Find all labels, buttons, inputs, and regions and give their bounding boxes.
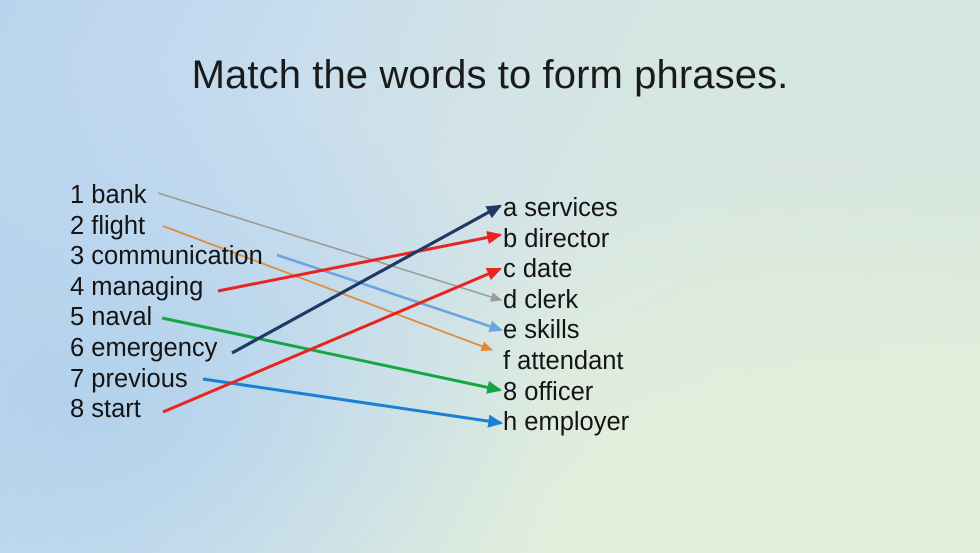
- connector-arrow: [232, 206, 500, 353]
- list-item[interactable]: 8 start: [70, 394, 263, 425]
- right-word-list: a services b director c date d clerk e s…: [503, 193, 629, 438]
- list-item[interactable]: c date: [503, 254, 629, 285]
- list-item[interactable]: a services: [503, 193, 629, 224]
- list-item[interactable]: b director: [503, 224, 629, 255]
- connector-arrow: [277, 255, 501, 330]
- list-item[interactable]: 5 naval: [70, 302, 263, 333]
- page-title: Match the words to form phrases.: [0, 52, 980, 98]
- list-item[interactable]: 1 bank: [70, 180, 263, 211]
- list-item[interactable]: 7 previous: [70, 364, 263, 395]
- list-item[interactable]: f attendant: [503, 346, 629, 377]
- left-word-list: 1 bank 2 flight 3 communication 4 managi…: [70, 180, 263, 425]
- list-item[interactable]: e skills: [503, 315, 629, 346]
- list-item[interactable]: 4 managing: [70, 272, 263, 303]
- list-item[interactable]: 8 officer: [503, 377, 629, 408]
- list-item[interactable]: d clerk: [503, 285, 629, 316]
- list-item[interactable]: h employer: [503, 407, 629, 438]
- list-item[interactable]: 3 communication: [70, 241, 263, 272]
- list-item[interactable]: 6 emergency: [70, 333, 263, 364]
- list-item[interactable]: 2 flight: [70, 211, 263, 242]
- slide-canvas: Match the words to form phrases.: [0, 0, 980, 553]
